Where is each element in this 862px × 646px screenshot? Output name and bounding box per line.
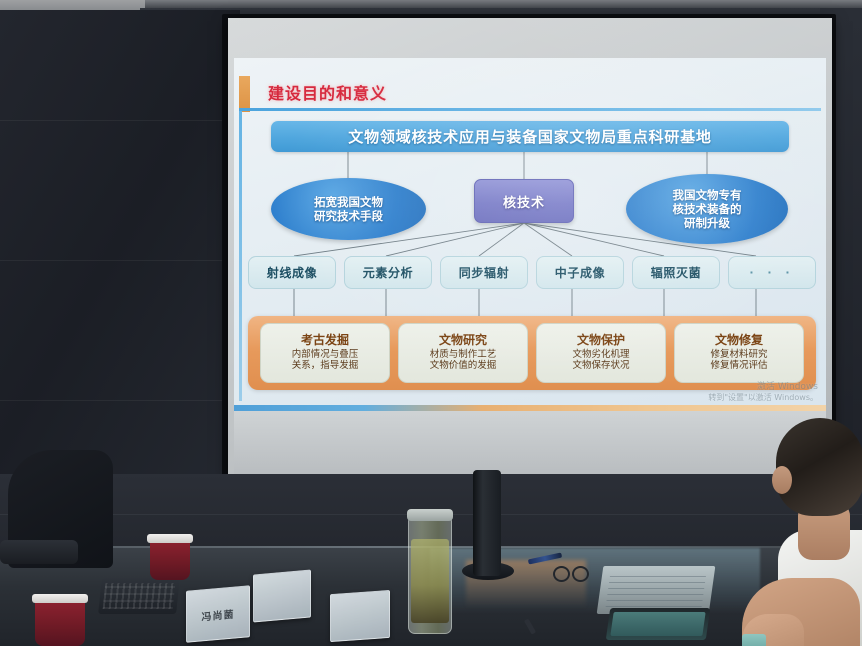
- technique-box: 射线成像: [248, 256, 336, 289]
- title-accent-bar: [239, 76, 250, 112]
- slide-banner: 文物领域核技术应用与装备国家文物局重点科研基地: [271, 121, 789, 152]
- application-title: 文物研究: [439, 334, 487, 348]
- title-divider-rule: [239, 108, 821, 111]
- technique-label: 射线成像: [267, 264, 317, 281]
- application-box: 文物保护 文物劣化机理 文物保存状况: [536, 323, 666, 383]
- technique-box: 辐照灭菌: [632, 256, 720, 289]
- application-title: 考古发掘: [301, 334, 349, 348]
- windows-activation-watermark: 激活 Windows 转到"设置"以激活 Windows。: [708, 382, 818, 403]
- tea-jar-lid: [407, 509, 453, 521]
- ellipsis-label: · · ·: [749, 266, 794, 279]
- watermark-line-2: 转到"设置"以激活 Windows。: [708, 393, 818, 403]
- banner-label: 文物领域核技术应用与装备国家文物局重点科研基地: [348, 126, 711, 147]
- notepad: [597, 566, 716, 614]
- keyboard: [98, 578, 180, 614]
- application-box: 文物修复 修复材料研究 修复情况评估: [674, 323, 804, 383]
- attendee-head: [776, 418, 862, 516]
- tea-liquid: [411, 539, 449, 623]
- conference-room-photo: 建设目的和意义: [0, 0, 862, 646]
- presentation-slide: 建设目的和意义: [234, 58, 826, 411]
- screen-blank-lower: [234, 411, 826, 474]
- technique-box: 同步辐射: [440, 256, 528, 289]
- chair-armrest: [0, 540, 78, 564]
- technique-row: 射线成像 元素分析 同步辐射 中子成像 辐照灭菌 · · ·: [248, 256, 816, 289]
- tea-jar: [408, 516, 452, 634]
- core-technology-label: 核技术: [503, 192, 545, 211]
- technique-label: 元素分析: [363, 264, 413, 281]
- attendee: [742, 418, 862, 646]
- goal-right-label: 我国文物专有 核技术装备的 研制升级: [673, 188, 742, 230]
- technique-label: 辐照灭菌: [651, 264, 701, 281]
- application-desc: 材质与制作工艺 文物价值的发掘: [430, 349, 497, 373]
- technique-box: 中子成像: [536, 256, 624, 289]
- application-box: 文物研究 材质与制作工艺 文物价值的发掘: [398, 323, 528, 383]
- goal-left-label: 拓宽我国文物 研究技术手段: [314, 195, 383, 223]
- cup-lid: [147, 534, 193, 543]
- goal-ellipse-left: 拓宽我国文物 研究技术手段: [271, 178, 426, 240]
- watermark-line-1: 激活 Windows: [708, 382, 818, 393]
- application-desc: 内部情况与叠压 关系，指导发掘: [292, 349, 359, 373]
- application-desc: 修复材料研究 修复情况评估: [710, 349, 767, 373]
- technique-label: 同步辐射: [459, 264, 509, 281]
- name-placard: [253, 569, 311, 622]
- goal-ellipse-right: 我国文物专有 核技术装备的 研制升级: [626, 174, 788, 244]
- slide-title: 建设目的和意义: [268, 80, 387, 104]
- application-title: 文物保护: [577, 334, 625, 348]
- technique-box: 元素分析: [344, 256, 432, 289]
- coffee-cup: [150, 540, 190, 580]
- left-rail: [239, 111, 242, 401]
- application-title: 文物修复: [715, 334, 763, 348]
- technique-label: 中子成像: [555, 264, 605, 281]
- name-placard: [330, 590, 390, 642]
- microphone: [473, 470, 501, 576]
- coffee-cup: [35, 600, 85, 646]
- core-technology-box: 核技术: [474, 179, 574, 223]
- eyeglasses: [553, 566, 597, 580]
- name-placard: 冯尚菌: [186, 585, 250, 643]
- cup-lid: [32, 594, 88, 603]
- technique-box-more: · · ·: [728, 256, 816, 289]
- attendee-phone: [742, 634, 766, 646]
- attendee-ear: [772, 466, 792, 494]
- placard-label: 冯尚菌: [202, 605, 235, 623]
- application-desc: 文物劣化机理 文物保存状况: [572, 349, 629, 373]
- applications-band: 考古发掘 内部情况与叠压 关系，指导发掘 文物研究 材质与制作工艺 文物价值的发…: [248, 316, 816, 390]
- tablet-device: [606, 608, 710, 640]
- application-box: 考古发掘 内部情况与叠压 关系，指导发掘: [260, 323, 390, 383]
